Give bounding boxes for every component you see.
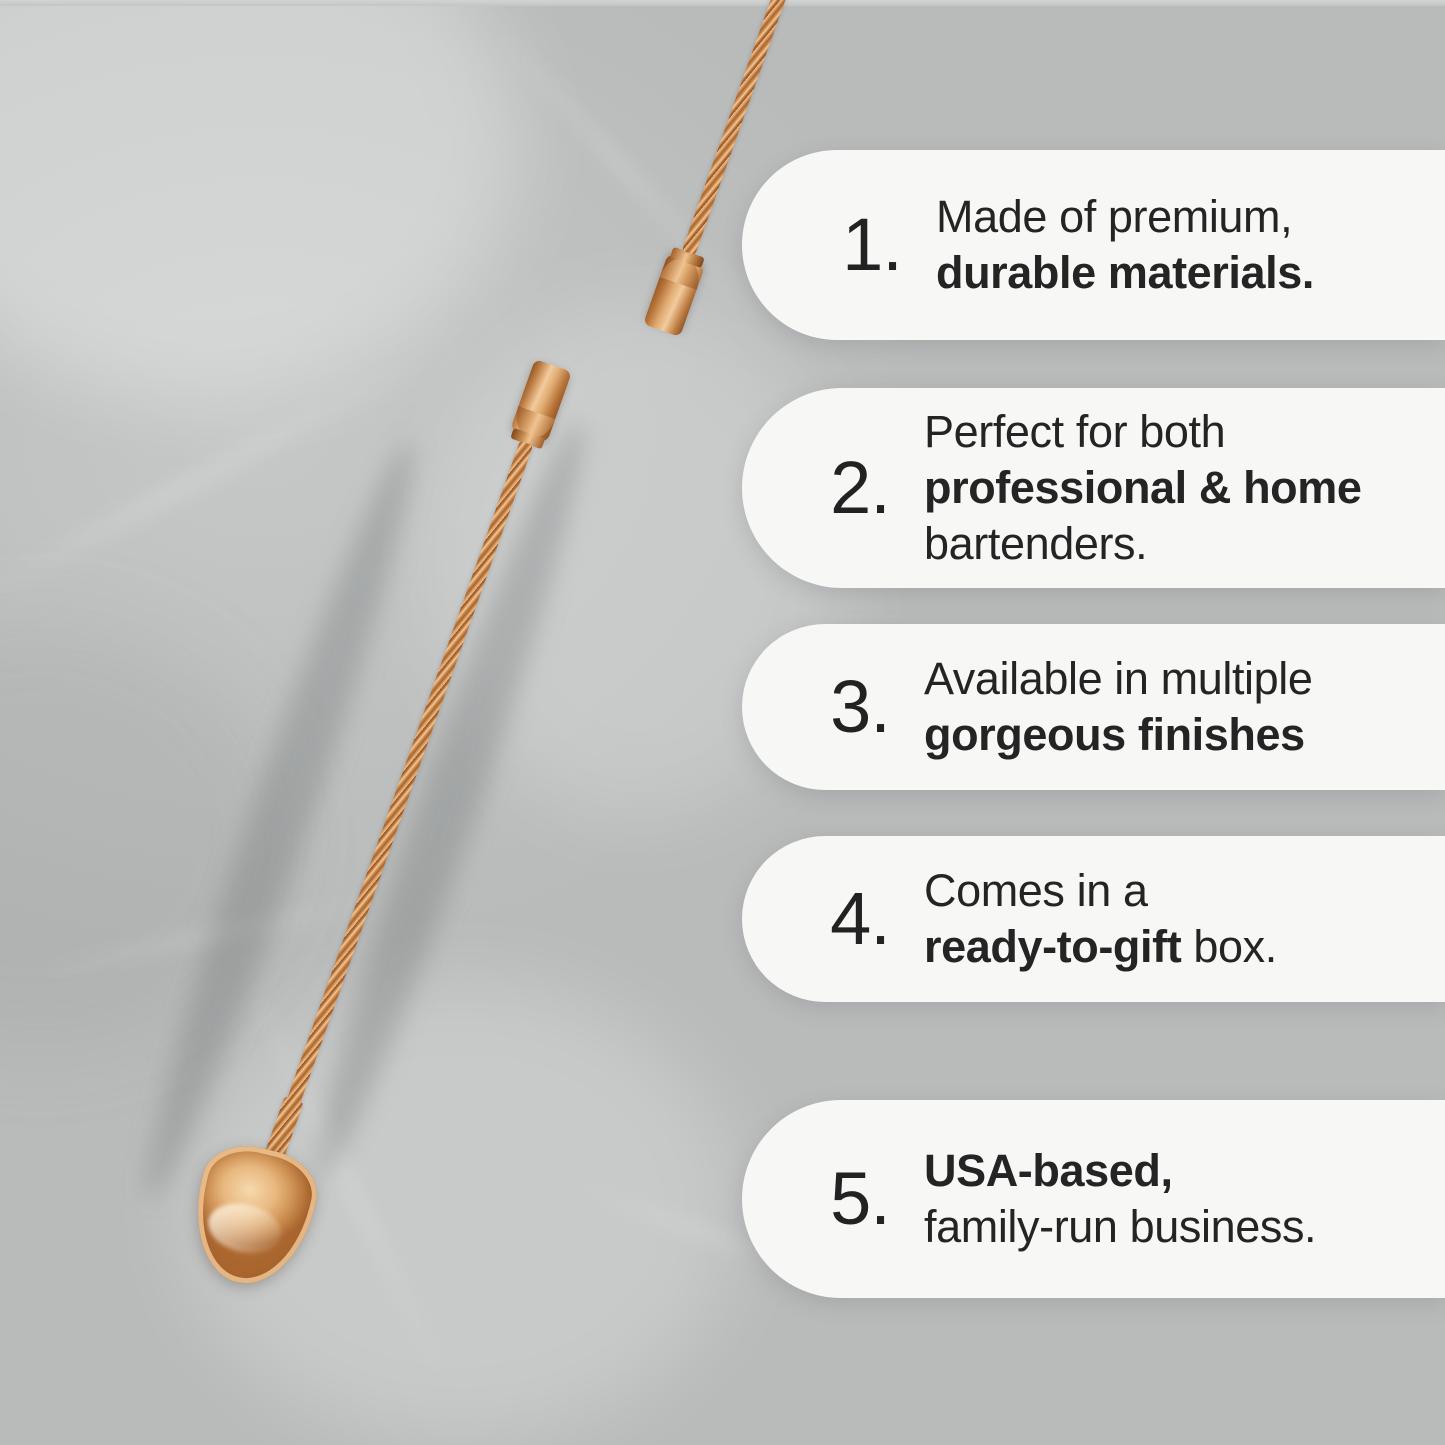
benefit-text: Available in multiple gorgeous finishes xyxy=(924,651,1445,763)
benefit-line: bartenders. xyxy=(924,516,1427,572)
benefit-line: Made of premium, xyxy=(936,189,1427,245)
benefit-number: 3. xyxy=(796,670,924,744)
benefit-line: professional & home xyxy=(924,460,1427,516)
benefits-list: 1. Made of premium, durable materials. 2… xyxy=(742,0,1445,1445)
benefit-number: 1. xyxy=(808,208,936,282)
spoon-bowl xyxy=(181,1136,326,1295)
benefit-line: family-run business. xyxy=(924,1199,1427,1255)
benefit-number: 2. xyxy=(796,451,924,525)
benefit-card-1[interactable]: 1. Made of premium, durable materials. xyxy=(742,150,1445,340)
benefit-number: 5. xyxy=(796,1162,924,1236)
product-infographic: 1. Made of premium, durable materials. 2… xyxy=(0,0,1445,1445)
benefit-line: USA-based, xyxy=(924,1143,1427,1199)
benefit-line: gorgeous finishes xyxy=(924,707,1427,763)
spoon-shadow xyxy=(291,412,608,1188)
benefit-card-2[interactable]: 2. Perfect for both professional & home … xyxy=(742,388,1445,588)
benefit-line-emphasis: ready-to-gift xyxy=(924,921,1181,972)
benefit-line: ready-to-gift box. xyxy=(924,919,1427,975)
benefit-number: 4. xyxy=(796,882,924,956)
benefit-text: Perfect for both professional & home bar… xyxy=(924,404,1445,571)
benefit-line: Available in multiple xyxy=(924,651,1427,707)
benefit-card-5[interactable]: 5. USA-based, family-run business. xyxy=(742,1100,1445,1298)
benefit-line: Comes in a xyxy=(924,863,1427,919)
benefit-card-4[interactable]: 4. Comes in a ready-to-gift box. xyxy=(742,836,1445,1002)
benefit-line: Perfect for both xyxy=(924,404,1427,460)
benefit-text: USA-based, family-run business. xyxy=(924,1143,1445,1255)
benefit-text: Comes in a ready-to-gift box. xyxy=(924,863,1445,975)
benefit-text: Made of premium, durable materials. xyxy=(936,189,1445,301)
benefit-card-3[interactable]: 3. Available in multiple gorgeous finish… xyxy=(742,624,1445,790)
benefit-line: durable materials. xyxy=(936,245,1427,301)
benefit-line-rest: box. xyxy=(1181,921,1277,972)
